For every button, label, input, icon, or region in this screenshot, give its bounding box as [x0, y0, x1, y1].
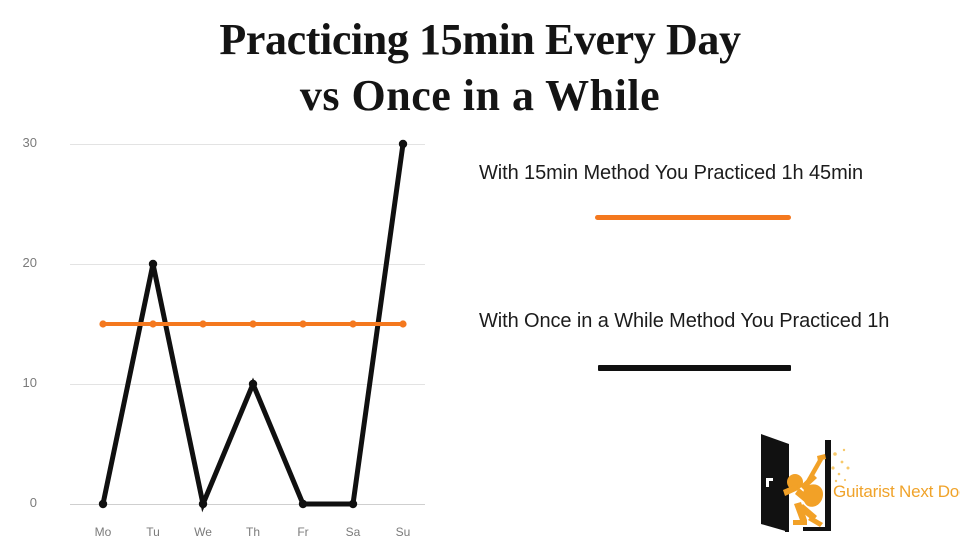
data-point	[349, 500, 357, 508]
x-tick-label-su: Su	[383, 525, 423, 539]
data-point	[299, 500, 307, 508]
x-tick-label-th: Th	[233, 525, 273, 539]
legend-item-once-in-a-while: With Once in a While Method You Practice…	[455, 310, 960, 371]
series-layer	[70, 144, 425, 504]
open-door-guitarist-icon	[745, 424, 855, 536]
title-line-2: vs Once in a While	[0, 68, 960, 124]
brand-logo: Guitarist Next Door	[745, 424, 960, 536]
x-tick-label-we: We	[183, 525, 223, 539]
data-point	[399, 320, 406, 327]
y-tick-label-30: 30	[0, 135, 37, 150]
legend: With 15min Method You Practiced 1h 45min…	[455, 150, 960, 420]
data-point	[99, 320, 106, 327]
data-point	[99, 500, 107, 508]
logo-wordmark: Guitarist Next Door	[833, 482, 960, 502]
y-tick-label-10: 10	[0, 375, 37, 390]
data-point	[149, 260, 157, 268]
title-line-1: Practicing 15min Every Day	[0, 12, 960, 68]
gridline-0	[70, 504, 425, 505]
data-point	[249, 380, 257, 388]
x-tick-label-mo: Mo	[83, 525, 123, 539]
y-tick-label-20: 20	[0, 255, 37, 270]
data-point	[199, 320, 206, 327]
legend-label-once-in-a-while: With Once in a While Method You Practice…	[455, 310, 960, 333]
data-point	[199, 500, 207, 508]
legend-item-15min: With 15min Method You Practiced 1h 45min	[455, 162, 960, 220]
legend-label-15min: With 15min Method You Practiced 1h 45min	[455, 162, 960, 185]
data-point	[149, 320, 156, 327]
x-tick-label-sa: Sa	[333, 525, 373, 539]
data-point	[399, 140, 407, 148]
data-point	[299, 320, 306, 327]
line-chart: 0102030 MoTuWeThFrSaSu	[0, 130, 450, 540]
x-tick-label-fr: Fr	[283, 525, 323, 539]
black-line-swatch	[598, 365, 791, 371]
orange-line-swatch	[595, 215, 791, 220]
x-tick-label-tu: Tu	[133, 525, 173, 539]
page-title: Practicing 15min Every Day vs Once in a …	[0, 12, 960, 124]
data-point	[349, 320, 356, 327]
y-tick-label-0: 0	[0, 495, 37, 510]
plot-area: 0102030 MoTuWeThFrSaSu	[70, 144, 425, 504]
data-point	[249, 320, 256, 327]
